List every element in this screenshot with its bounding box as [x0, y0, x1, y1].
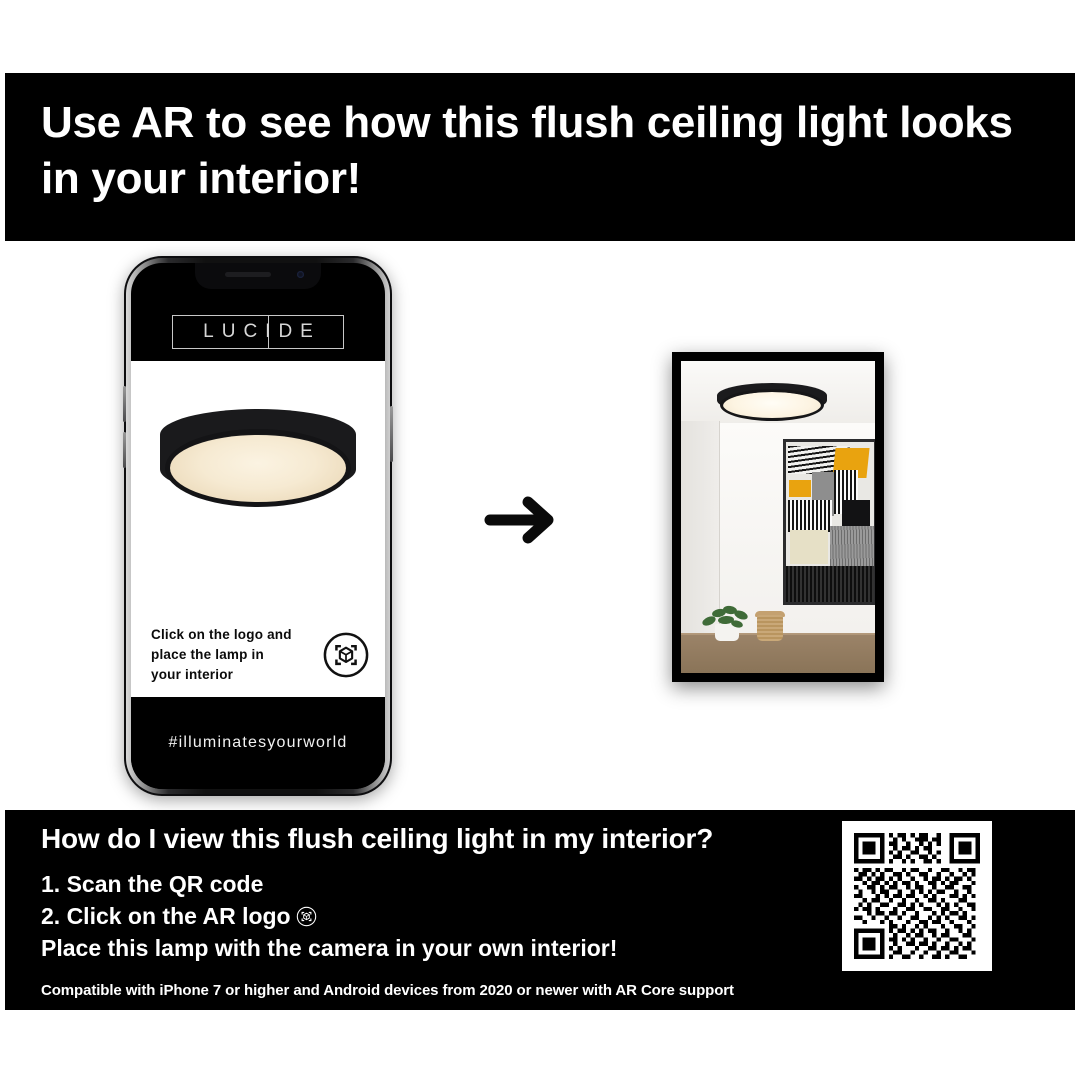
product-panel: Click on the logo and place the lamp in … [131, 361, 385, 711]
product-image-flush-ceiling-light [160, 409, 356, 513]
phone-notch [195, 263, 321, 289]
footer-title: How do I view this flush ceiling light i… [41, 823, 713, 855]
artwork-canvas [786, 442, 874, 602]
headline-banner: Use AR to see how this flush ceiling lig… [5, 73, 1075, 241]
wall-artwork [783, 439, 875, 605]
qr-code[interactable] [842, 821, 992, 971]
plant-leaves-icon [699, 601, 755, 631]
footer-banner: How do I view this flush ceiling light i… [5, 810, 1075, 1010]
ar-cube-icon[interactable] [296, 906, 317, 927]
interior-photo-content [681, 361, 875, 673]
footer-compatibility-note: Compatible with iPhone 7 or higher and A… [41, 982, 734, 999]
ar-cube-icon[interactable] [323, 632, 369, 678]
volume-down-button[interactable] [123, 432, 126, 468]
front-camera-icon [297, 271, 304, 278]
installed-lamp-rim [720, 389, 824, 421]
arrow-right-icon [484, 492, 564, 548]
page-title: Use AR to see how this flush ceiling lig… [41, 95, 1021, 208]
brand-logo[interactable]: LUCIDE [131, 311, 385, 353]
hashtag-text: #illuminatesyourworld [168, 734, 347, 752]
instruction-block: Click on the logo and place the lamp in … [151, 625, 369, 685]
artwork-grey-block-2 [830, 526, 874, 566]
artwork-gold-block-2 [789, 480, 811, 497]
logo-box: LUCIDE [172, 315, 344, 349]
phone-mockup: LUCIDE Click on the logo and place the l… [124, 256, 392, 796]
power-button[interactable] [390, 406, 393, 462]
artwork-black-block [842, 500, 870, 526]
footer-steps: 1. Scan the QR code 2. Click on the AR l… [41, 868, 617, 965]
lamp-rim [165, 429, 351, 507]
footer-step-1-text: 1. Scan the QR code [41, 868, 263, 900]
footer-step-2-text: 2. Click on the AR logo [41, 900, 291, 932]
brand-logo-text: LUCIDE [172, 315, 344, 349]
qr-code-image [854, 833, 980, 959]
hashtag-strip: #illuminatesyourworld [131, 697, 385, 789]
footer-step-2: 2. Click on the AR logo [41, 900, 617, 932]
installed-ceiling-lamp [717, 383, 827, 423]
artwork-black-band [786, 566, 874, 602]
earpiece-speaker-icon [225, 272, 271, 277]
footer-final-line: Place this lamp with the camera in your … [41, 932, 617, 964]
artwork-stripes-left [788, 500, 832, 532]
volume-up-button[interactable] [123, 386, 126, 422]
phone-screen: LUCIDE Click on the logo and place the l… [131, 263, 385, 789]
artwork-cream-block [790, 530, 828, 564]
interior-photo [672, 352, 884, 682]
wicker-basket [757, 615, 783, 641]
instruction-text: Click on the logo and place the lamp in … [151, 625, 309, 685]
footer-step-1: 1. Scan the QR code [41, 868, 617, 900]
